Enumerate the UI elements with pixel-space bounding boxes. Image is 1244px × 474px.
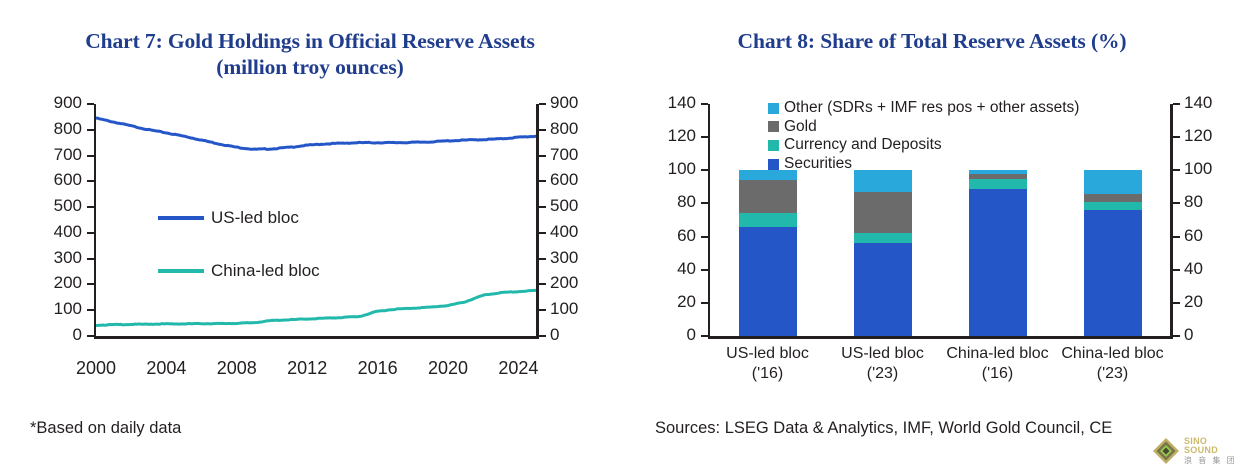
chart8-legend-label-2: Currency and Deposits: [784, 136, 942, 155]
tick-right-800: [539, 129, 546, 131]
ytick-left-500: 500: [20, 196, 82, 216]
tick-right-200: [539, 283, 546, 285]
tick-left-60: [701, 236, 708, 238]
chart8-xcat-line1-3: China-led bloc: [1038, 344, 1188, 364]
ytick-right-300: 300: [550, 248, 612, 268]
chart7-legend-label-us: US-led bloc: [211, 208, 299, 228]
tick-right-80: [1173, 202, 1180, 204]
chart7-title: Chart 7: Gold Holdings in Official Reser…: [10, 28, 610, 80]
chart8-legend-row-1: Gold: [768, 118, 1079, 137]
ytick-right-120: 120: [1184, 126, 1244, 146]
ytick-right-400: 400: [550, 222, 612, 242]
chart8-sources: Sources: LSEG Data & Analytics, IMF, Wor…: [655, 419, 1112, 438]
ytick-right-0: 0: [1184, 325, 1244, 345]
tick-right-120: [1173, 136, 1180, 138]
ytick-right-140: 140: [1184, 93, 1244, 113]
ytick-right-200: 200: [550, 273, 612, 293]
ytick-left-0: 0: [634, 325, 696, 345]
chart8-legend-row-3: Securities: [768, 155, 1079, 174]
ytick-left-900: 900: [20, 93, 82, 113]
ytick-right-60: 60: [1184, 226, 1244, 246]
ytick-right-500: 500: [550, 196, 612, 216]
tick-left-120: [701, 136, 708, 138]
chart-axis-right: [536, 104, 539, 337]
chart8-segment-2-currency: [969, 179, 1027, 189]
chart8-legend-label-1: Gold: [784, 118, 817, 137]
chart8-segment-3-securities: [1084, 210, 1142, 336]
ytick-right-700: 700: [550, 145, 612, 165]
chart8-segment-1-gold: [854, 192, 912, 233]
ytick-right-20: 20: [1184, 292, 1244, 312]
ytick-left-400: 400: [20, 222, 82, 242]
ytick-left-20: 20: [634, 292, 696, 312]
tick-left-40: [701, 269, 708, 271]
tick-left-140: [701, 103, 708, 105]
watermark-chinese: 浪 音 集 团: [1184, 457, 1238, 465]
tick-left-0: [87, 335, 94, 337]
chart8-segment-2-securities: [969, 189, 1027, 336]
chart8-legend-label-3: Securities: [784, 155, 852, 174]
chart8-segment-3-currency: [1084, 202, 1142, 210]
tick-left-700: [87, 155, 94, 157]
legend-swatch-2: [768, 140, 779, 151]
tick-right-0: [1173, 335, 1180, 337]
chart8-segment-1-currency: [854, 233, 912, 243]
tick-right-40: [1173, 269, 1180, 271]
chart8-xcat-3: China-led bloc('23): [1038, 344, 1188, 384]
chart8-segment-1-securities: [854, 243, 912, 336]
chart-axis-left: [94, 104, 97, 337]
chart8-segment-0-gold: [739, 180, 797, 213]
chart8-legend: Other (SDRs + IMF res pos + other assets…: [768, 99, 1079, 173]
sino-sound-watermark: SINO SOUND 浪 音 集 团: [1152, 436, 1238, 466]
ytick-left-100: 100: [20, 299, 82, 319]
chart8-stacked-bar-0[interactable]: [739, 170, 797, 336]
tick-right-0: [539, 335, 546, 337]
chart7-line-china-led-bloc: [96, 290, 536, 325]
legend-swatch-3: [768, 159, 779, 170]
tick-left-100: [701, 169, 708, 171]
tick-left-0: [701, 335, 708, 337]
ytick-left-700: 700: [20, 145, 82, 165]
chart8-title: Chart 8: Share of Total Reserve Assets (…: [632, 28, 1232, 54]
chart8-segment-3-other: [1084, 170, 1142, 193]
chart-axis-bottom: [94, 336, 539, 339]
tick-right-60: [1173, 236, 1180, 238]
ytick-left-60: 60: [634, 226, 696, 246]
tick-left-300: [87, 258, 94, 260]
tick-right-400: [539, 232, 546, 234]
ytick-left-140: 140: [634, 93, 696, 113]
ytick-left-300: 300: [20, 248, 82, 268]
chart8-stacked-bar-2[interactable]: [969, 170, 1027, 336]
chart7-line-us-led-bloc: [96, 118, 536, 149]
chart8-xcat-line2-3: ('23): [1038, 364, 1188, 384]
tick-right-100: [539, 309, 546, 311]
tick-left-100: [87, 309, 94, 311]
tick-left-600: [87, 180, 94, 182]
legend-swatch-0: [768, 103, 779, 114]
ytick-right-80: 80: [1184, 192, 1244, 212]
ytick-left-600: 600: [20, 170, 82, 190]
tick-left-500: [87, 206, 94, 208]
tick-right-100: [1173, 169, 1180, 171]
tick-left-80: [701, 202, 708, 204]
tick-left-20: [701, 302, 708, 304]
tick-right-20: [1173, 302, 1180, 304]
ytick-right-900: 900: [550, 93, 612, 113]
chart8-legend-label-0: Other (SDRs + IMF res pos + other assets…: [784, 99, 1079, 118]
tick-right-500: [539, 206, 546, 208]
chart7-footnote: *Based on daily data: [30, 419, 181, 438]
chart8-stacked-bar-1[interactable]: [854, 170, 912, 336]
chart8-legend-row-2: Currency and Deposits: [768, 136, 1079, 155]
chart-axis-left: [708, 104, 711, 337]
tick-right-700: [539, 155, 546, 157]
watermark-text: SINO SOUND 浪 音 集 团: [1184, 437, 1238, 465]
chart-axis-bottom: [708, 336, 1173, 339]
chart8-segment-3-gold: [1084, 194, 1142, 202]
chart7-xtick-2024: 2024: [473, 358, 563, 379]
ytick-left-0: 0: [20, 325, 82, 345]
chart8-segment-0-currency: [739, 213, 797, 226]
ytick-left-80: 80: [634, 192, 696, 212]
chart8-stacked-bar-3[interactable]: [1084, 170, 1142, 336]
ytick-left-120: 120: [634, 126, 696, 146]
chart7-subtitle: (million troy ounces): [10, 54, 610, 80]
tick-left-200: [87, 283, 94, 285]
chart7-panel: Chart 7: Gold Holdings in Official Reser…: [0, 0, 620, 474]
tick-left-400: [87, 232, 94, 234]
legend-swatch-us-led-bloc: [158, 216, 204, 220]
diamond-logo-icon: [1152, 437, 1180, 465]
ytick-right-800: 800: [550, 119, 612, 139]
ytick-right-600: 600: [550, 170, 612, 190]
watermark-english: SINO SOUND: [1184, 437, 1238, 455]
tick-right-900: [539, 103, 546, 105]
ytick-right-40: 40: [1184, 259, 1244, 279]
chart8-segment-1-other: [854, 170, 912, 192]
tick-left-900: [87, 103, 94, 105]
ytick-right-100: 100: [1184, 159, 1244, 179]
legend-swatch-china-led-bloc: [158, 269, 204, 273]
chart7-legend-us-led-bloc: US-led bloc: [158, 208, 299, 228]
ytick-left-100: 100: [634, 159, 696, 179]
tick-right-140: [1173, 103, 1180, 105]
ytick-left-40: 40: [634, 259, 696, 279]
chart8-segment-0-securities: [739, 227, 797, 336]
tick-right-300: [539, 258, 546, 260]
legend-swatch-1: [768, 121, 779, 132]
ytick-left-200: 200: [20, 273, 82, 293]
chart7-title-line1: Chart 7: Gold Holdings in Official Reser…: [10, 28, 610, 54]
tick-right-600: [539, 180, 546, 182]
chart7-legend-label-china: China-led bloc: [211, 261, 320, 281]
ytick-right-100: 100: [550, 299, 612, 319]
chart8-legend-row-0: Other (SDRs + IMF res pos + other assets…: [768, 99, 1079, 118]
ytick-left-800: 800: [20, 119, 82, 139]
ytick-right-0: 0: [550, 325, 612, 345]
chart7-legend-china-led-bloc: China-led bloc: [158, 261, 320, 281]
tick-left-800: [87, 129, 94, 131]
